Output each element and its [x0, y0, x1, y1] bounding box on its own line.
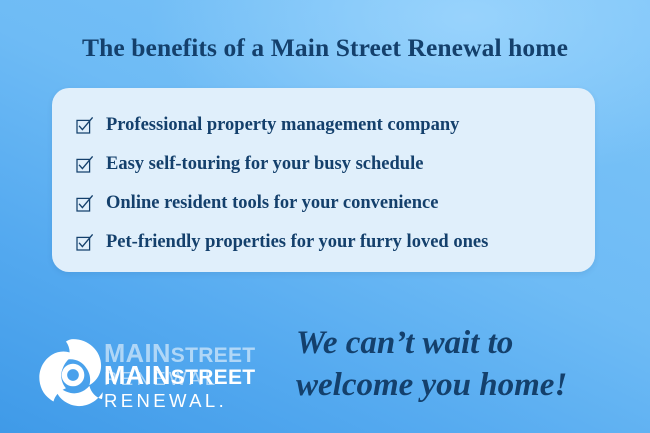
benefit-label: Easy self-touring for your busy schedule: [106, 155, 423, 174]
promo-poster: The benefits of a Main Street Renewal ho…: [0, 0, 650, 433]
benefit-label: Online resident tools for your convenien…: [106, 194, 438, 213]
logo-word-main: MAIN: [104, 362, 171, 390]
list-item: Online resident tools for your convenien…: [76, 184, 583, 222]
checkbox-checked-icon: [76, 195, 93, 212]
logo-wordmark-group: MAINSTREET RENEWAL MAINSTREET RENEWAL.: [104, 330, 289, 422]
checkbox-checked-icon: [76, 117, 93, 134]
list-item: Easy self-touring for your busy schedule: [76, 145, 583, 183]
logo-wordmark-main: MAINSTREET: [104, 364, 255, 390]
list-item: Pet-friendly properties for your furry l…: [76, 223, 583, 261]
logo-word-street: STREET: [171, 366, 256, 389]
benefit-label: Professional property management company: [106, 116, 459, 135]
tagline: We can’t wait to welcome you home!: [296, 322, 636, 406]
checkbox-checked-icon: [76, 156, 93, 173]
mainstreet-swirl-icon: [34, 336, 112, 414]
benefit-label: Pet-friendly properties for your furry l…: [106, 233, 488, 252]
benefits-list: Professional property management company…: [76, 106, 583, 262]
checkbox-checked-icon: [76, 234, 93, 251]
tagline-line-2: welcome you home!: [296, 364, 636, 406]
list-item: Professional property management company: [76, 106, 583, 144]
benefits-card: Professional property management company…: [52, 88, 595, 272]
page-title: The benefits of a Main Street Renewal ho…: [0, 33, 650, 63]
logo-wordmark-sub: RENEWAL.: [104, 392, 227, 411]
tagline-line-1: We can’t wait to: [296, 322, 636, 364]
brand-logo: MAINSTREET RENEWAL MAINSTREET RENEWAL.: [34, 330, 284, 422]
